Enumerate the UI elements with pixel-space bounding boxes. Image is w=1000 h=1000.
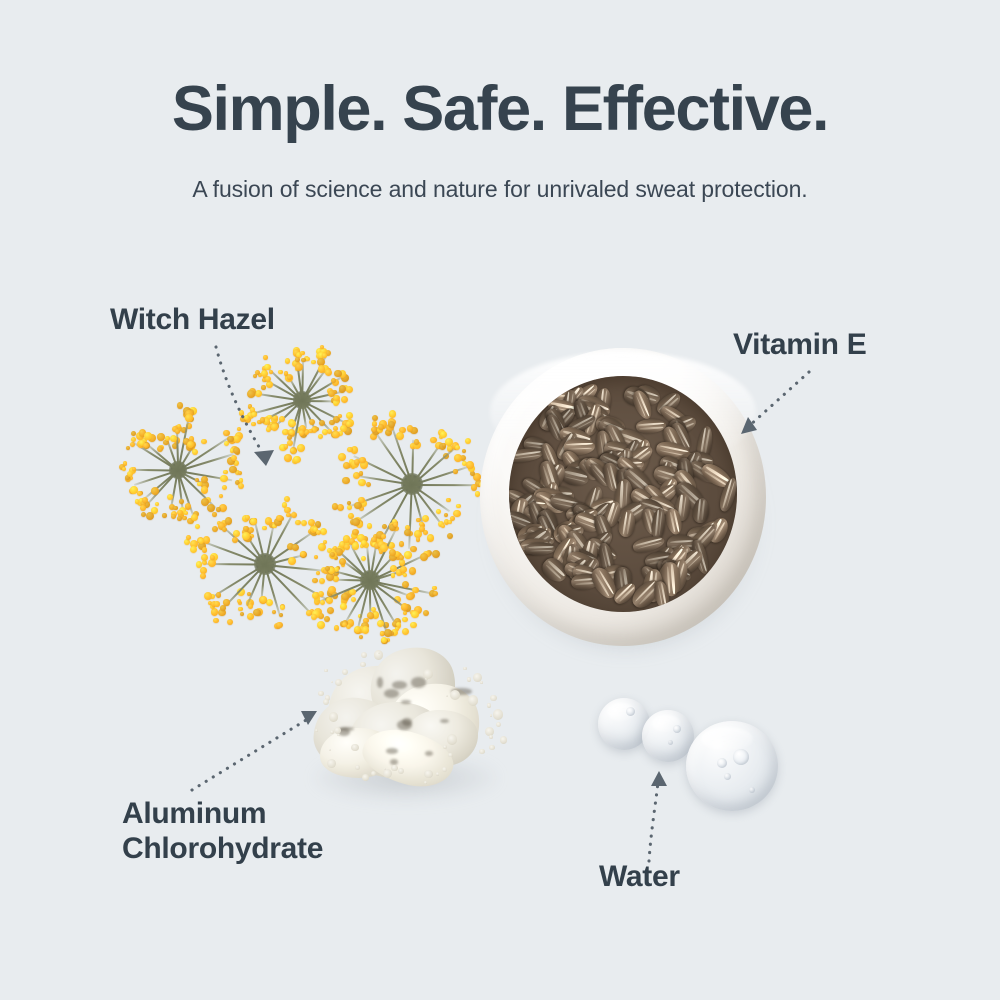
floret-bud (171, 514, 176, 519)
floret-bud (201, 554, 208, 561)
sunflower-seeds-bowl-image (478, 346, 768, 650)
floret-bud (248, 527, 254, 533)
floret-bud (279, 416, 285, 422)
floret-bud (380, 631, 384, 635)
floret-bud (177, 510, 183, 516)
powder-speck (351, 744, 359, 752)
floret-bud (410, 546, 417, 553)
floret-bud (396, 432, 404, 440)
powder-speck (496, 722, 501, 727)
floret-bud (316, 571, 320, 575)
floret-bud (247, 613, 254, 620)
floret-bud (319, 578, 326, 585)
powder-speck (463, 667, 466, 670)
floret-bud (295, 520, 301, 526)
floret-bud (399, 541, 405, 547)
powder-speck (361, 652, 367, 658)
floret-bud (266, 381, 273, 388)
floret-bud (326, 597, 333, 604)
droplet-bubble (717, 758, 727, 768)
powder-speck (489, 745, 495, 751)
floret-bud (233, 447, 240, 454)
floret-bud (262, 526, 267, 531)
floret-bud (312, 578, 317, 583)
floret-bud (362, 626, 370, 634)
floret-bud (239, 478, 243, 482)
floret-bud (346, 412, 353, 419)
powder-speck (331, 681, 333, 683)
floret-bud (293, 456, 301, 464)
floret-bud (201, 439, 207, 445)
floret-bud (329, 420, 334, 425)
floret-bud (471, 484, 477, 490)
floret-bud (450, 516, 455, 521)
floret-bud (272, 610, 276, 614)
powder-crevice (392, 681, 407, 689)
powder-speck (490, 695, 497, 702)
water-droplets-image (592, 692, 788, 818)
floret-bud (190, 546, 197, 553)
floret-bud (184, 511, 188, 515)
floret-bud (248, 604, 254, 610)
floret-bud (227, 619, 233, 625)
floret-bud (358, 479, 365, 486)
floret-bud (396, 622, 401, 627)
floret-bud (288, 557, 296, 565)
floret-bud (334, 625, 339, 630)
label-witch-hazel: Witch Hazel (110, 302, 275, 337)
floret-bud (195, 524, 200, 529)
floret-bud (311, 614, 317, 620)
floret-bud (343, 462, 350, 469)
floret-bud (207, 504, 215, 512)
floret-bud (216, 592, 222, 598)
floret-bud (289, 420, 296, 427)
floret-bud (444, 513, 448, 517)
label-vitamin-e: Vitamin E (733, 327, 866, 362)
floret-bud (170, 435, 177, 442)
floret-bud (271, 423, 278, 430)
page-subtitle: A fusion of science and nature for unriv… (0, 176, 1000, 203)
floret-bud (324, 616, 331, 623)
floret-bud (381, 534, 385, 538)
floret-bud (132, 467, 136, 471)
floret-bud (332, 431, 340, 439)
powder-speck (329, 712, 339, 722)
floret-bud (416, 537, 420, 541)
floret-bud (232, 537, 238, 543)
floret-bud (233, 435, 241, 443)
floret-bud (455, 445, 460, 450)
floret-bud (191, 514, 198, 521)
floret-bud (380, 544, 388, 552)
floret-stem (375, 433, 412, 485)
floret-bud (406, 593, 413, 600)
powder-speck (383, 769, 392, 778)
floret-bud (157, 446, 163, 452)
floret-bud (255, 390, 262, 397)
powder-speck (360, 662, 365, 667)
floret-bud (361, 540, 367, 546)
floret-bud (462, 449, 466, 453)
floret-bud (179, 499, 184, 504)
floret-bud (222, 485, 227, 490)
floret-bud (433, 591, 438, 596)
powder-crevice (425, 751, 433, 756)
powder-crevice (401, 700, 411, 704)
floret-bud (420, 553, 428, 561)
powder-speck (450, 690, 460, 700)
floret-bud (454, 454, 462, 462)
floret-bud (320, 600, 325, 605)
floret-bud (412, 587, 419, 594)
floret-bud (251, 412, 256, 417)
label-aluminum-chlorohydrate: Aluminum Chlorohydrate (122, 796, 323, 867)
floret-bud (399, 559, 405, 565)
powder-speck (362, 774, 369, 781)
floret-bud (320, 528, 327, 535)
floret-bud (295, 357, 300, 362)
floret-bud (264, 364, 271, 371)
floret-bud (292, 544, 299, 551)
floret-bud (339, 385, 346, 392)
floret-bud (409, 567, 417, 575)
floret-bud (301, 358, 306, 363)
floret-bud (216, 507, 221, 512)
floret-bud (317, 621, 325, 629)
floret-bud (436, 509, 441, 514)
powder-speck (447, 734, 457, 744)
floret-bud (372, 415, 378, 421)
powder-speck (323, 699, 329, 705)
floret-bud (127, 471, 133, 477)
floret-bud (233, 530, 240, 537)
floret-bud (151, 487, 159, 495)
arrow-aluminum-chlorohydrate-line (192, 717, 311, 790)
powder-crevice (377, 677, 383, 688)
powder-crevice (386, 748, 398, 754)
floret-bud (316, 530, 322, 536)
powder-speck (424, 781, 427, 784)
floret-bud (414, 439, 419, 444)
floret-bud (318, 543, 326, 551)
floret-bud (240, 612, 244, 616)
floret-bud (300, 351, 305, 356)
floret-bud (367, 523, 373, 529)
floret-bud (192, 449, 198, 455)
floret-bud (311, 360, 315, 364)
powder-speck (448, 753, 452, 757)
floret-bud (263, 355, 268, 360)
powder-speck (479, 749, 485, 755)
droplet-gloss (701, 727, 753, 751)
floret-bud (278, 370, 283, 375)
floret-bud (314, 555, 318, 559)
bowl-interior-seeds (509, 376, 737, 612)
floret-bud (219, 494, 223, 498)
floret-bud (327, 607, 334, 614)
floret-bud (347, 505, 352, 510)
droplet-bubble (626, 707, 635, 716)
floret-bud (403, 611, 407, 615)
floret-bud (372, 421, 377, 426)
floret-bud (280, 605, 285, 610)
sunflower-seed (526, 542, 556, 556)
floret-bud (162, 513, 166, 517)
floret-bud (279, 613, 283, 617)
floret-bud (328, 390, 335, 397)
floret-bud (247, 390, 255, 398)
floret-bud (126, 446, 130, 450)
floret-bud (244, 415, 249, 420)
floret-bud (238, 471, 242, 475)
floret-bud (402, 581, 409, 588)
floret-bud (301, 520, 307, 526)
floret-bud (333, 576, 339, 582)
floret-bud (223, 470, 228, 475)
floret-bud (131, 437, 136, 442)
floret-bud (143, 443, 148, 448)
powder-speck (355, 765, 360, 770)
floret-bud (361, 556, 366, 561)
powder-speck (436, 772, 440, 776)
floret-bud (344, 544, 350, 550)
powder-speck (398, 768, 404, 774)
floret-bud (445, 438, 453, 446)
floret-bud (165, 436, 170, 441)
powder-speck (487, 703, 491, 707)
powder-speck (324, 669, 327, 672)
powder-crevice (440, 719, 448, 723)
floret-bud (286, 513, 291, 518)
powder-speck (391, 765, 397, 771)
powder-speck (467, 677, 472, 682)
floret-bud (200, 573, 206, 579)
floret-bud (261, 385, 265, 389)
aluminum-chlorohydrate-powder-image (300, 636, 510, 816)
floret-bud (155, 502, 159, 506)
ingredients-infographic: Simple. Safe. Effective. A fusion of sci… (0, 0, 1000, 1000)
powder-speck (480, 681, 483, 684)
floret-bud (330, 552, 335, 557)
floret-bud (331, 378, 336, 383)
floret-bud (338, 414, 343, 419)
floret-bud (430, 437, 436, 443)
floret-bud (177, 402, 183, 408)
powder-speck (335, 679, 342, 686)
floret-bud (447, 533, 453, 539)
floret-bud (287, 440, 293, 446)
floret-stem (129, 469, 178, 471)
floret-bud (140, 505, 146, 511)
floret-bud (213, 618, 219, 624)
floret-bud (325, 369, 332, 376)
floret-bud (322, 353, 326, 357)
floret-bud (422, 515, 429, 522)
floret-bud (291, 512, 297, 518)
powder-speck (489, 735, 493, 739)
powder-speck (342, 669, 348, 675)
floret-bud (250, 518, 257, 525)
floret-bud (214, 601, 220, 607)
floret-bud (334, 370, 342, 378)
floret-bud (204, 592, 212, 600)
floret-bud (284, 496, 290, 502)
floret-bud (185, 414, 192, 421)
floret-bud (423, 610, 429, 616)
floret-bud (239, 410, 245, 416)
floret-bud (211, 608, 218, 615)
floret-bud (402, 617, 407, 622)
powder-speck (318, 691, 324, 697)
floret-bud (352, 542, 359, 549)
floret-bud (202, 547, 207, 552)
floret-bud (332, 503, 338, 509)
floret-bud (341, 593, 349, 601)
floret-bud (284, 454, 292, 462)
floret-bud (342, 477, 350, 485)
floret-bud (186, 535, 191, 540)
floret-bud (237, 427, 242, 432)
floret-bud (403, 573, 407, 577)
powder-speck (493, 709, 503, 719)
floret-bud (266, 427, 270, 431)
floret-bud (352, 518, 360, 526)
floret-bud (130, 486, 138, 494)
droplet-bubble (749, 787, 755, 793)
floret-bud (208, 559, 216, 567)
label-water: Water (599, 859, 680, 894)
droplet-bubble (724, 773, 731, 780)
floret-bud (354, 502, 361, 509)
floret-bud (456, 504, 461, 509)
floret-bud (359, 457, 366, 464)
floret-bud (404, 551, 411, 558)
floret-bud (322, 429, 328, 435)
floret-bud (220, 605, 226, 611)
floret-bud (297, 444, 305, 452)
floret-bud (407, 425, 413, 431)
floret-bud (251, 422, 255, 426)
floret-bud (253, 609, 260, 616)
floret-bud (220, 475, 227, 482)
floret-bud (346, 386, 353, 393)
floret-bud (400, 566, 407, 573)
droplet-bubble (668, 740, 673, 745)
floret-bud (309, 419, 316, 426)
floret-bud (325, 566, 330, 571)
floret-bud (122, 467, 126, 471)
floret-bud (212, 526, 218, 532)
floret-bud (410, 622, 417, 629)
floret-bud (440, 431, 447, 438)
floret-bud (453, 469, 457, 473)
floret-bud (388, 421, 395, 428)
floret-bud (238, 607, 243, 612)
floret-bud (146, 512, 154, 520)
floret-bud (285, 358, 291, 364)
floret-bud (229, 466, 236, 473)
floret-bud (348, 513, 354, 519)
floret-bud (378, 424, 384, 430)
floret-bud (299, 430, 305, 436)
floret-bud (141, 512, 146, 517)
floret-bud (359, 471, 364, 476)
droplet-bubble (733, 749, 749, 765)
floret-bud (177, 516, 182, 521)
floret-bud (238, 483, 244, 489)
droplet-bubble (673, 725, 681, 733)
water-droplet-medium (642, 710, 694, 762)
floret-bud (175, 429, 180, 434)
floret-bud (465, 438, 471, 444)
floret-bud (326, 573, 334, 581)
floret-bud (130, 442, 135, 447)
water-droplet-large (686, 721, 778, 811)
floret-bud (389, 549, 396, 556)
page-title: Simple. Safe. Effective. (0, 76, 1000, 142)
floret-bud (366, 482, 371, 487)
floret-bud (432, 550, 440, 558)
floret-bud (137, 491, 142, 496)
powder-speck (442, 767, 447, 772)
floret-bud (389, 410, 396, 417)
floret-bud (402, 628, 409, 635)
floret-bud (276, 622, 283, 629)
floret-bud (338, 453, 346, 461)
floret-bud (391, 573, 396, 578)
floret-bud (323, 540, 327, 544)
floret-bud (341, 396, 348, 403)
floret-bud (197, 482, 202, 487)
floret-bud (340, 603, 347, 610)
witch-hazel-flowers-image (112, 352, 452, 652)
floret-bud (446, 498, 450, 502)
floret-bud (401, 603, 409, 611)
floret-bud (212, 512, 217, 517)
powder-speck (468, 695, 479, 706)
floret-bud (224, 441, 229, 446)
floret-bud (411, 611, 418, 618)
powder-speck (500, 736, 508, 744)
floret-bud (441, 524, 446, 529)
floret-bud (300, 551, 306, 557)
floret-bud (225, 517, 232, 524)
powder-crevice (390, 759, 398, 765)
floret-bud (427, 534, 434, 541)
floret-bud (289, 430, 294, 435)
floret-bud (312, 592, 319, 599)
floret-bud (371, 427, 377, 433)
